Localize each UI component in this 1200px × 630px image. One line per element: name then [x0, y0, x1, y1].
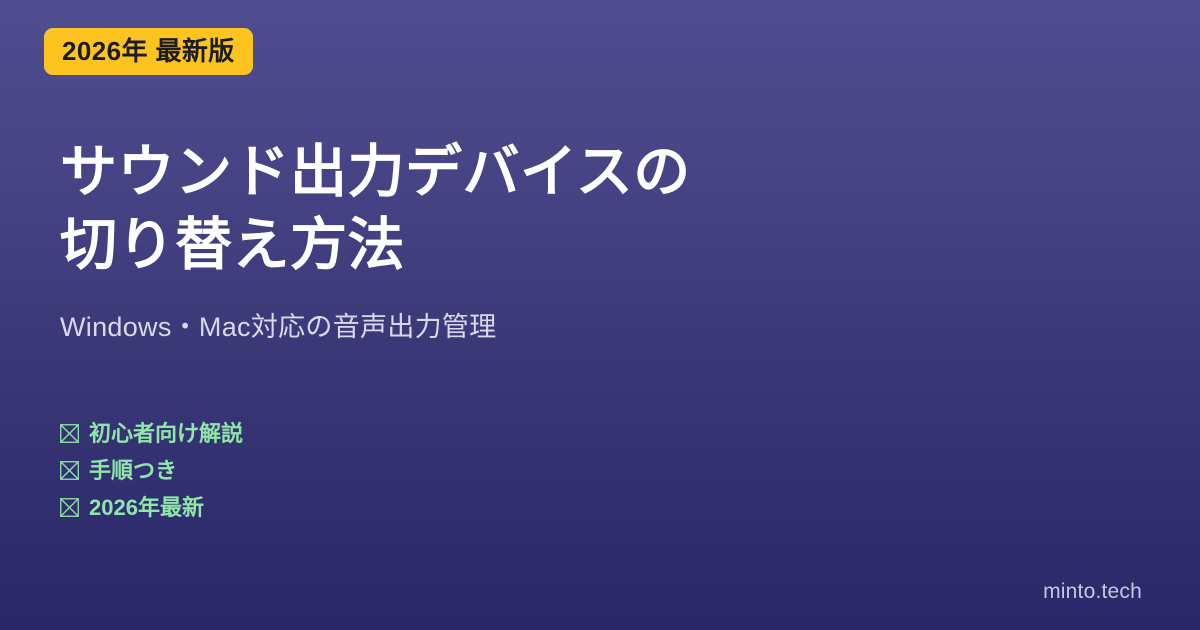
card-content: 2026年 最新版 サウンド出力デバイスの 切り替え方法 Windows・Mac… [60, 0, 1142, 630]
year-badge: 2026年 最新版 [44, 28, 253, 75]
feature-list-item: 2026年最新 [60, 489, 243, 526]
page-title-line-1: サウンド出力デバイスの [60, 136, 691, 209]
page-title: サウンド出力デバイスの 切り替え方法 [60, 136, 691, 282]
feature-list-item-label: 2026年最新 [89, 497, 204, 519]
feature-list-item-label: 手順つき [89, 460, 177, 482]
page-subtitle: Windows・Mac対応の音声出力管理 [60, 310, 497, 345]
feature-list-item-label: 初心者向け解説 [89, 423, 243, 445]
feature-list-item: 初心者向け解説 [60, 415, 243, 452]
og-card: 2026年 最新版 サウンド出力デバイスの 切り替え方法 Windows・Mac… [0, 0, 1200, 630]
badge-row: 2026年 最新版 [44, 28, 253, 75]
feature-list: 初心者向け解説 手順つき [60, 415, 243, 526]
missing-glyph-box-icon [60, 424, 79, 443]
page-title-line-2: 切り替え方法 [60, 209, 691, 282]
feature-list-item: 手順つき [60, 452, 243, 489]
missing-glyph-box-icon [60, 498, 79, 517]
site-footer: minto.tech [1043, 581, 1142, 602]
missing-glyph-box-icon [60, 461, 79, 480]
